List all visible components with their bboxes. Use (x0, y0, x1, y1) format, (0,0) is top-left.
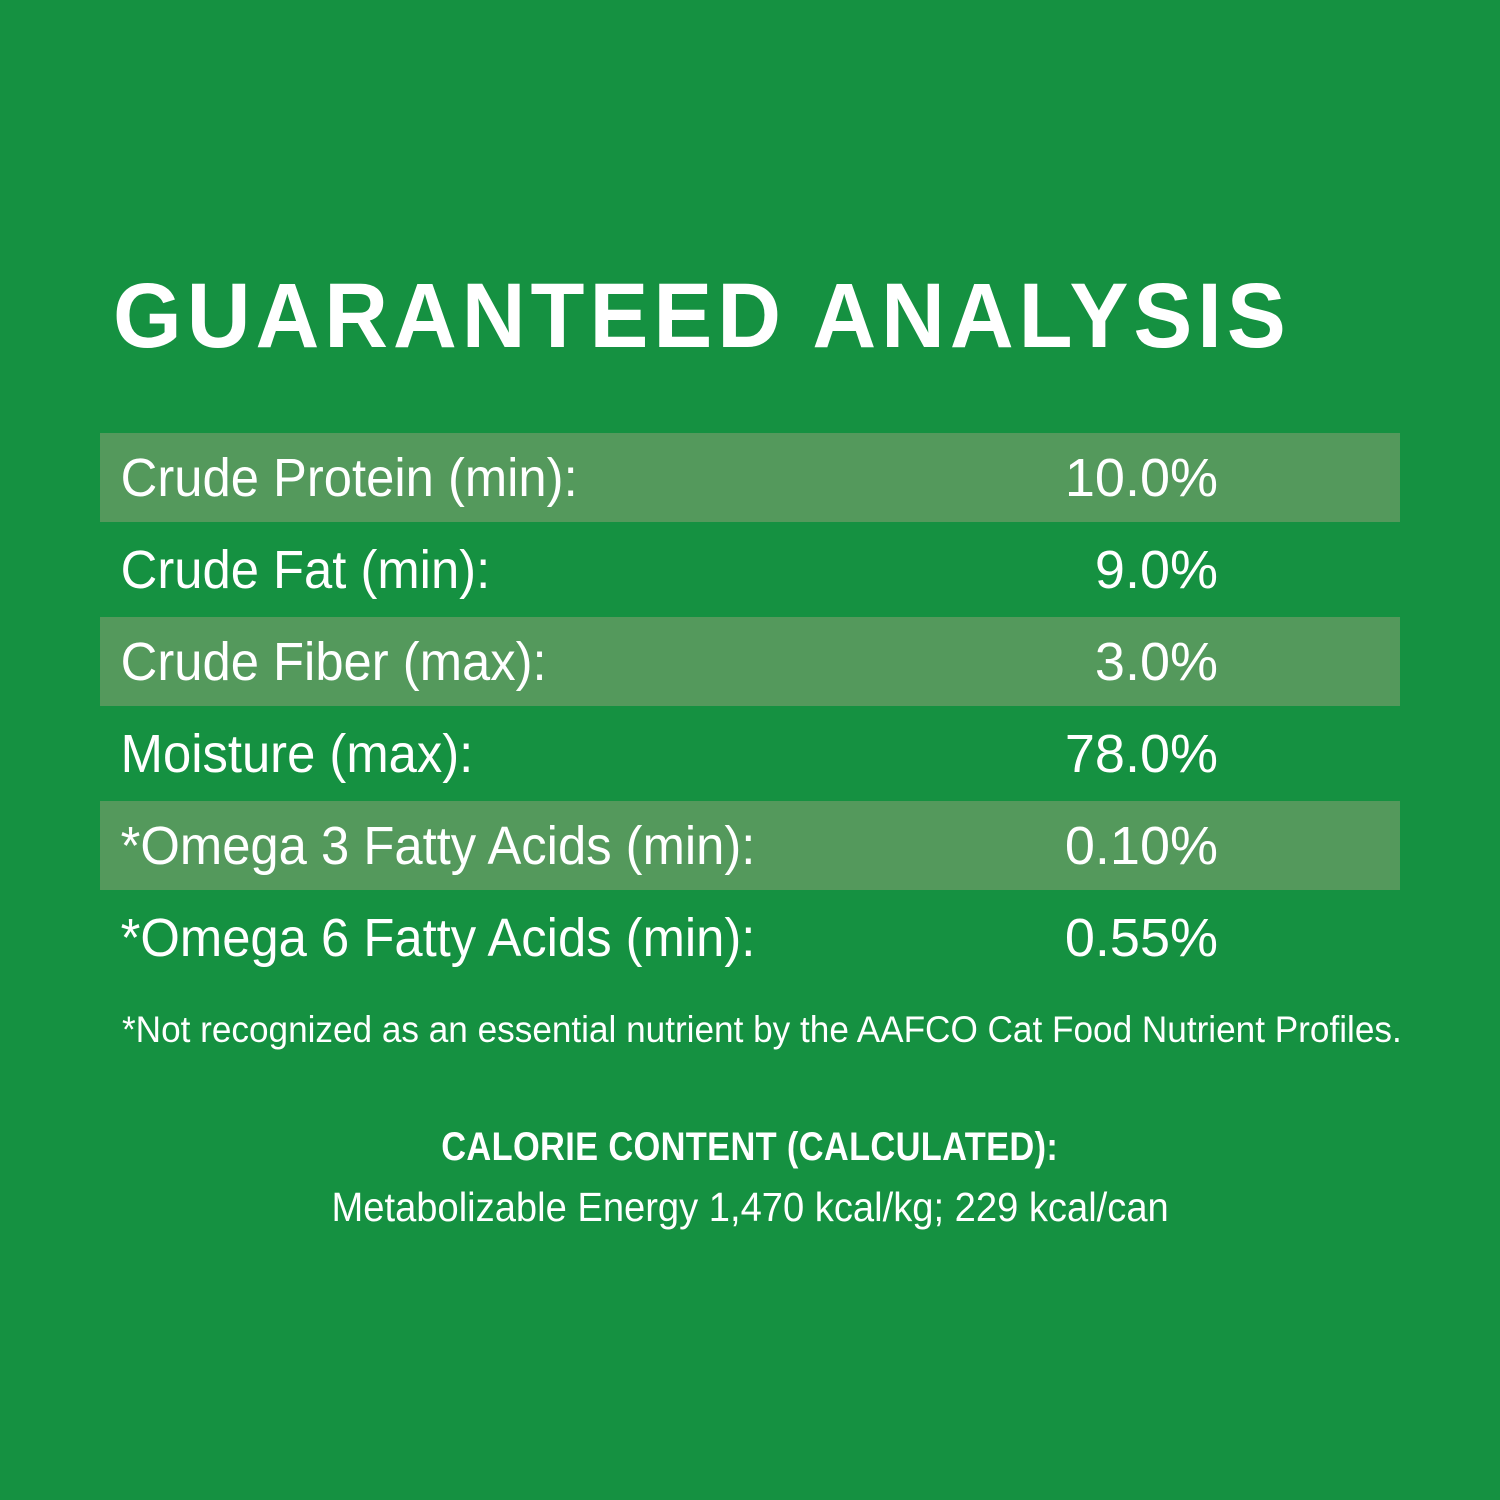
nutrient-value: 0.55% (888, 909, 1400, 967)
nutrient-value: 9.0% (888, 541, 1400, 599)
nutrient-value: 78.0% (888, 725, 1400, 783)
table-row: Crude Protein (min):10.0% (100, 433, 1400, 522)
nutrient-label: Crude Fat (min): (100, 541, 841, 599)
footnote-text: *Not recognized as an essential nutrient… (122, 1008, 1338, 1052)
nutrient-label: *Omega 3 Fatty Acids (min): (100, 817, 841, 875)
calorie-content-detail: Metabolizable Energy 1,470 kcal/kg; 229 … (331, 1182, 1168, 1232)
calorie-content-block: CALORIE CONTENT (CALCULATED): Metaboliza… (0, 1122, 1500, 1232)
nutrient-label: Moisture (max): (100, 725, 841, 783)
table-row: Crude Fiber (max):3.0% (100, 617, 1400, 706)
guaranteed-analysis-table: Crude Protein (min):10.0%Crude Fat (min)… (100, 433, 1400, 985)
nutrient-value: 10.0% (888, 449, 1400, 507)
page-title: GUARANTEED ANALYSIS (113, 268, 1351, 364)
nutrient-value: 0.10% (888, 817, 1400, 875)
guaranteed-analysis-panel: GUARANTEED ANALYSIS Crude Protein (min):… (0, 0, 1500, 1500)
table-row: *Omega 3 Fatty Acids (min):0.10% (100, 801, 1400, 890)
calorie-content-heading: CALORIE CONTENT (CALCULATED): (441, 1122, 1058, 1172)
nutrient-label: *Omega 6 Fatty Acids (min): (100, 909, 841, 967)
nutrient-label: Crude Protein (min): (100, 449, 841, 507)
table-row: Crude Fat (min):9.0% (100, 522, 1400, 617)
table-row: Moisture (max):78.0% (100, 706, 1400, 801)
nutrient-value: 3.0% (888, 633, 1400, 691)
table-row: *Omega 6 Fatty Acids (min):0.55% (100, 890, 1400, 985)
nutrient-label: Crude Fiber (max): (100, 633, 841, 691)
